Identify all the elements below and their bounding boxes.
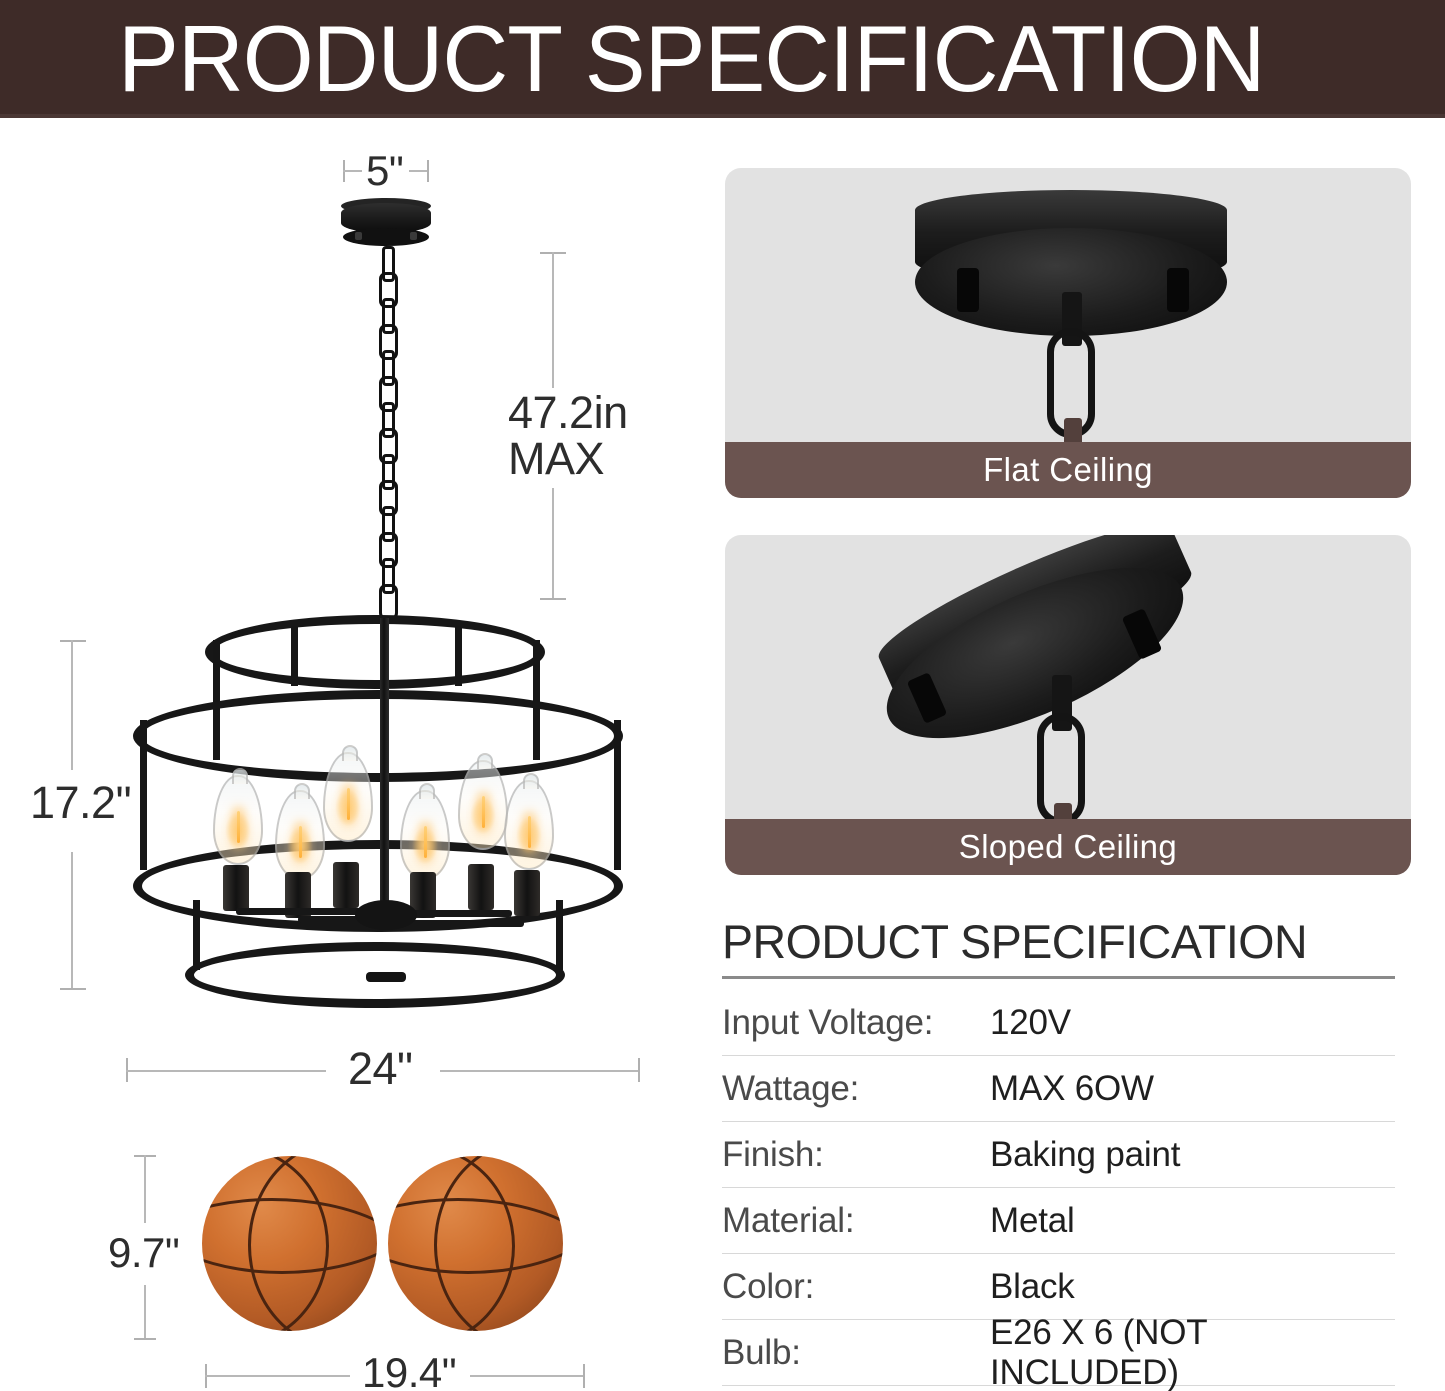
- basketball: [202, 1156, 377, 1331]
- dim-line-left: [205, 1375, 350, 1377]
- dim-tick-bottom: [540, 598, 566, 600]
- canopy-screw-right: [410, 232, 417, 240]
- center-stem: [380, 618, 389, 928]
- card-label-band-sloped: Sloped Ceiling: [725, 819, 1411, 875]
- spec-value: 120V: [990, 1003, 1395, 1043]
- dim-label-ball-height: 9.7": [108, 1228, 179, 1278]
- spec-key: Wattage:: [722, 1069, 990, 1109]
- bulb-socket: [468, 864, 494, 910]
- dim-label-max-height-line1: 47.2in: [508, 388, 628, 438]
- cage-post: [193, 900, 200, 970]
- card-sloped-ceiling: Sloped Ceiling: [725, 535, 1411, 875]
- edison-bulb: [213, 775, 263, 865]
- spec-value: Baking paint: [990, 1135, 1395, 1175]
- dim-line-left: [343, 170, 363, 172]
- basketball: [388, 1156, 563, 1331]
- header-banner: PRODUCT SPECIFICATION: [0, 0, 1445, 118]
- cage-post: [140, 720, 147, 870]
- cage-post: [455, 626, 462, 686]
- dim-line-upper: [144, 1155, 146, 1223]
- cage-post: [614, 720, 621, 870]
- spec-key: Input Voltage:: [722, 1003, 990, 1043]
- dim-tick-right: [583, 1364, 585, 1388]
- dim-line-right: [409, 170, 429, 172]
- cage-post: [556, 900, 563, 970]
- dim-label-max-height-line2: MAX: [508, 434, 604, 484]
- dim-tick-bottom: [134, 1338, 156, 1340]
- dim-line-right: [440, 1070, 640, 1072]
- spec-row-finish: Finish: Baking paint: [722, 1122, 1395, 1188]
- dim-tick-top: [60, 640, 86, 642]
- dim-line-left: [126, 1070, 326, 1072]
- spec-section-title: PRODUCT SPECIFICATION: [722, 915, 1307, 969]
- spec-row-input-voltage: Input Voltage: 120V: [722, 990, 1395, 1056]
- mounting-hole-right: [1167, 268, 1189, 312]
- bulb-socket: [333, 862, 359, 908]
- dim-line-lower: [71, 852, 73, 990]
- socket-arm: [404, 920, 524, 927]
- page-title: PRODUCT SPECIFICATION: [118, 9, 1321, 109]
- dim-tick-bottom: [60, 988, 86, 990]
- spec-key: Finish:: [722, 1135, 990, 1175]
- dim-tick-right: [427, 160, 429, 182]
- dim-line-lower: [552, 488, 554, 600]
- card-label-flat-ceiling: Flat Ceiling: [983, 451, 1153, 489]
- dim-label-canopy-width: 5": [362, 146, 407, 196]
- spec-key: Bulb:: [722, 1333, 990, 1373]
- edison-bulb: [400, 790, 450, 880]
- cage-post: [291, 626, 298, 686]
- spec-row-wattage: Wattage: MAX 6OW: [722, 1056, 1395, 1122]
- bulb-socket: [223, 865, 249, 911]
- spec-table: Input Voltage: 120V Wattage: MAX 6OW Fin…: [722, 990, 1395, 1386]
- canopy-screw-left: [355, 232, 362, 240]
- spec-key: Material:: [722, 1201, 990, 1241]
- card-label-sloped-ceiling: Sloped Ceiling: [959, 828, 1177, 866]
- center-hub: [355, 900, 417, 930]
- card-flat-ceiling: Flat Ceiling: [725, 168, 1411, 498]
- edison-bulb: [275, 790, 325, 880]
- edison-bulb: [504, 780, 554, 870]
- dim-line-upper: [552, 252, 554, 402]
- bottom-finial: [366, 972, 406, 982]
- dim-line-right: [470, 1375, 585, 1377]
- dim-label-ball-width: 19.4": [356, 1348, 462, 1391]
- card-label-band-flat: Flat Ceiling: [725, 442, 1411, 498]
- product-specification-page: PRODUCT SPECIFICATION 5": [0, 0, 1445, 1391]
- spec-value: Metal: [990, 1201, 1395, 1241]
- mounting-hole-left: [957, 268, 979, 312]
- ball-seam: [388, 1156, 563, 1274]
- spec-value: E26 X 6 (NOT INCLUDED): [990, 1313, 1395, 1391]
- socket-arm: [236, 908, 366, 915]
- spec-value: Black: [990, 1267, 1395, 1307]
- cage-ring-top: [205, 615, 545, 689]
- spec-key: Color:: [722, 1267, 990, 1307]
- dim-line-upper: [71, 640, 73, 770]
- spec-row-material: Material: Metal: [722, 1188, 1395, 1254]
- cage-ring-middle: [133, 690, 623, 782]
- ball-seam: [202, 1156, 377, 1274]
- bulb-socket: [514, 870, 540, 916]
- dim-label-fixture-height: 17.2": [30, 778, 131, 828]
- spec-row-bulb: Bulb: E26 X 6 (NOT INCLUDED): [722, 1320, 1395, 1386]
- spec-title-rule: [722, 976, 1395, 979]
- hanging-chain: [379, 246, 393, 618]
- dim-line-lower: [144, 1285, 146, 1340]
- spec-value: MAX 6OW: [990, 1069, 1395, 1109]
- spec-row-color: Color: Black: [722, 1254, 1395, 1320]
- dim-label-fixture-width: 24": [340, 1044, 421, 1094]
- dim-tick-right: [638, 1058, 640, 1082]
